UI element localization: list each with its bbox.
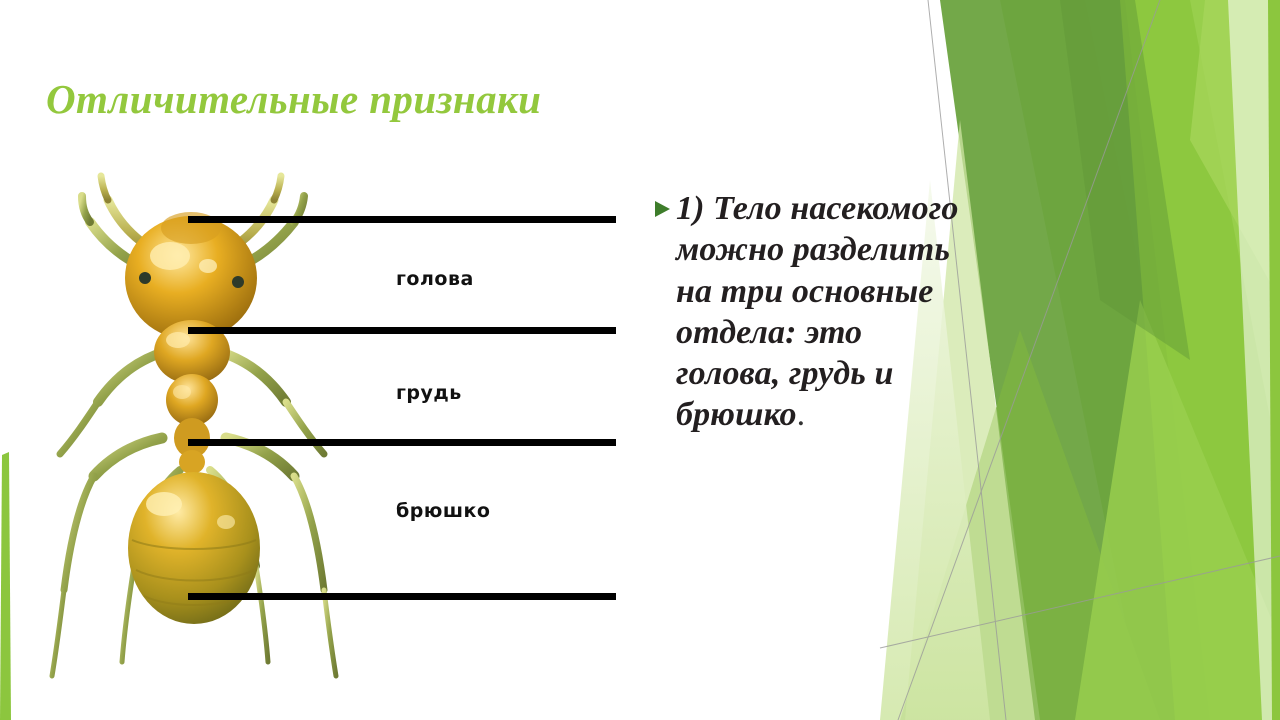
diagram-label-thorax: грудь — [396, 382, 462, 404]
content-text-tail: . — [797, 396, 806, 433]
ant-petiole — [179, 450, 205, 474]
leader-line-thorax-bottom — [188, 439, 616, 446]
content-text: 1) Тело насекомого можно разделить на тр… — [676, 188, 972, 436]
ant-abdomen — [128, 472, 260, 624]
leader-line-head-top — [188, 216, 616, 223]
content-bullet-item: 1) Тело насекомого можно разделить на тр… — [652, 188, 972, 436]
diagram-label-abdomen: брюшко — [396, 500, 490, 522]
leader-line-abdomen-bottom — [188, 593, 616, 600]
triangle-right-icon — [652, 199, 674, 219]
page-title: Отличительные признаки — [46, 78, 746, 121]
leader-line-head-bottom — [188, 327, 616, 334]
diagram-label-head: голова — [396, 268, 474, 290]
deco-left-accent — [0, 452, 11, 720]
content-text-main: 1) Тело насекомого можно разделить на тр… — [676, 190, 958, 433]
slide: Отличительные признаки — [0, 0, 1280, 720]
